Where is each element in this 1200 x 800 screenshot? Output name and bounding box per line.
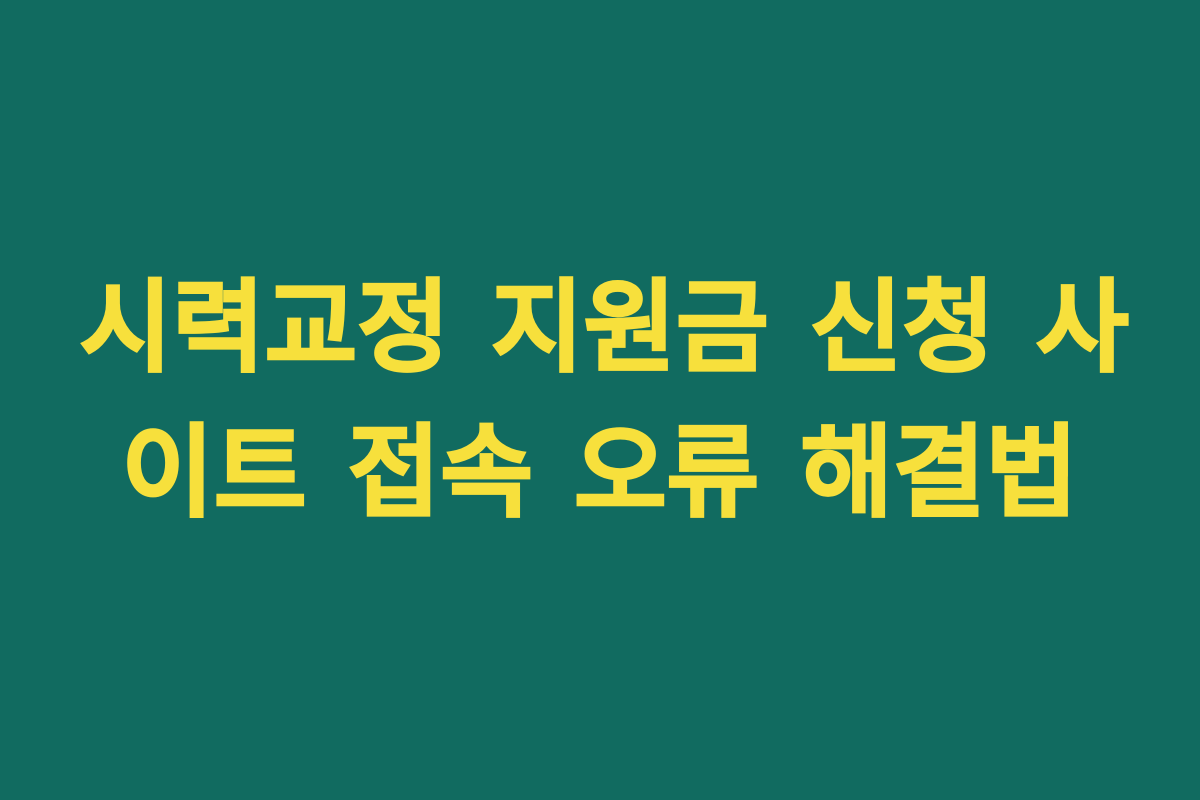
- headline-line-1: 시력교정 지원금 신청 사: [80, 255, 1120, 400]
- title-card: 시력교정 지원금 신청 사 이트 접속 오류 해결법: [0, 0, 1200, 800]
- headline-line-2: 이트 접속 오류 해결법: [80, 400, 1120, 545]
- headline: 시력교정 지원금 신청 사 이트 접속 오류 해결법: [80, 255, 1120, 545]
